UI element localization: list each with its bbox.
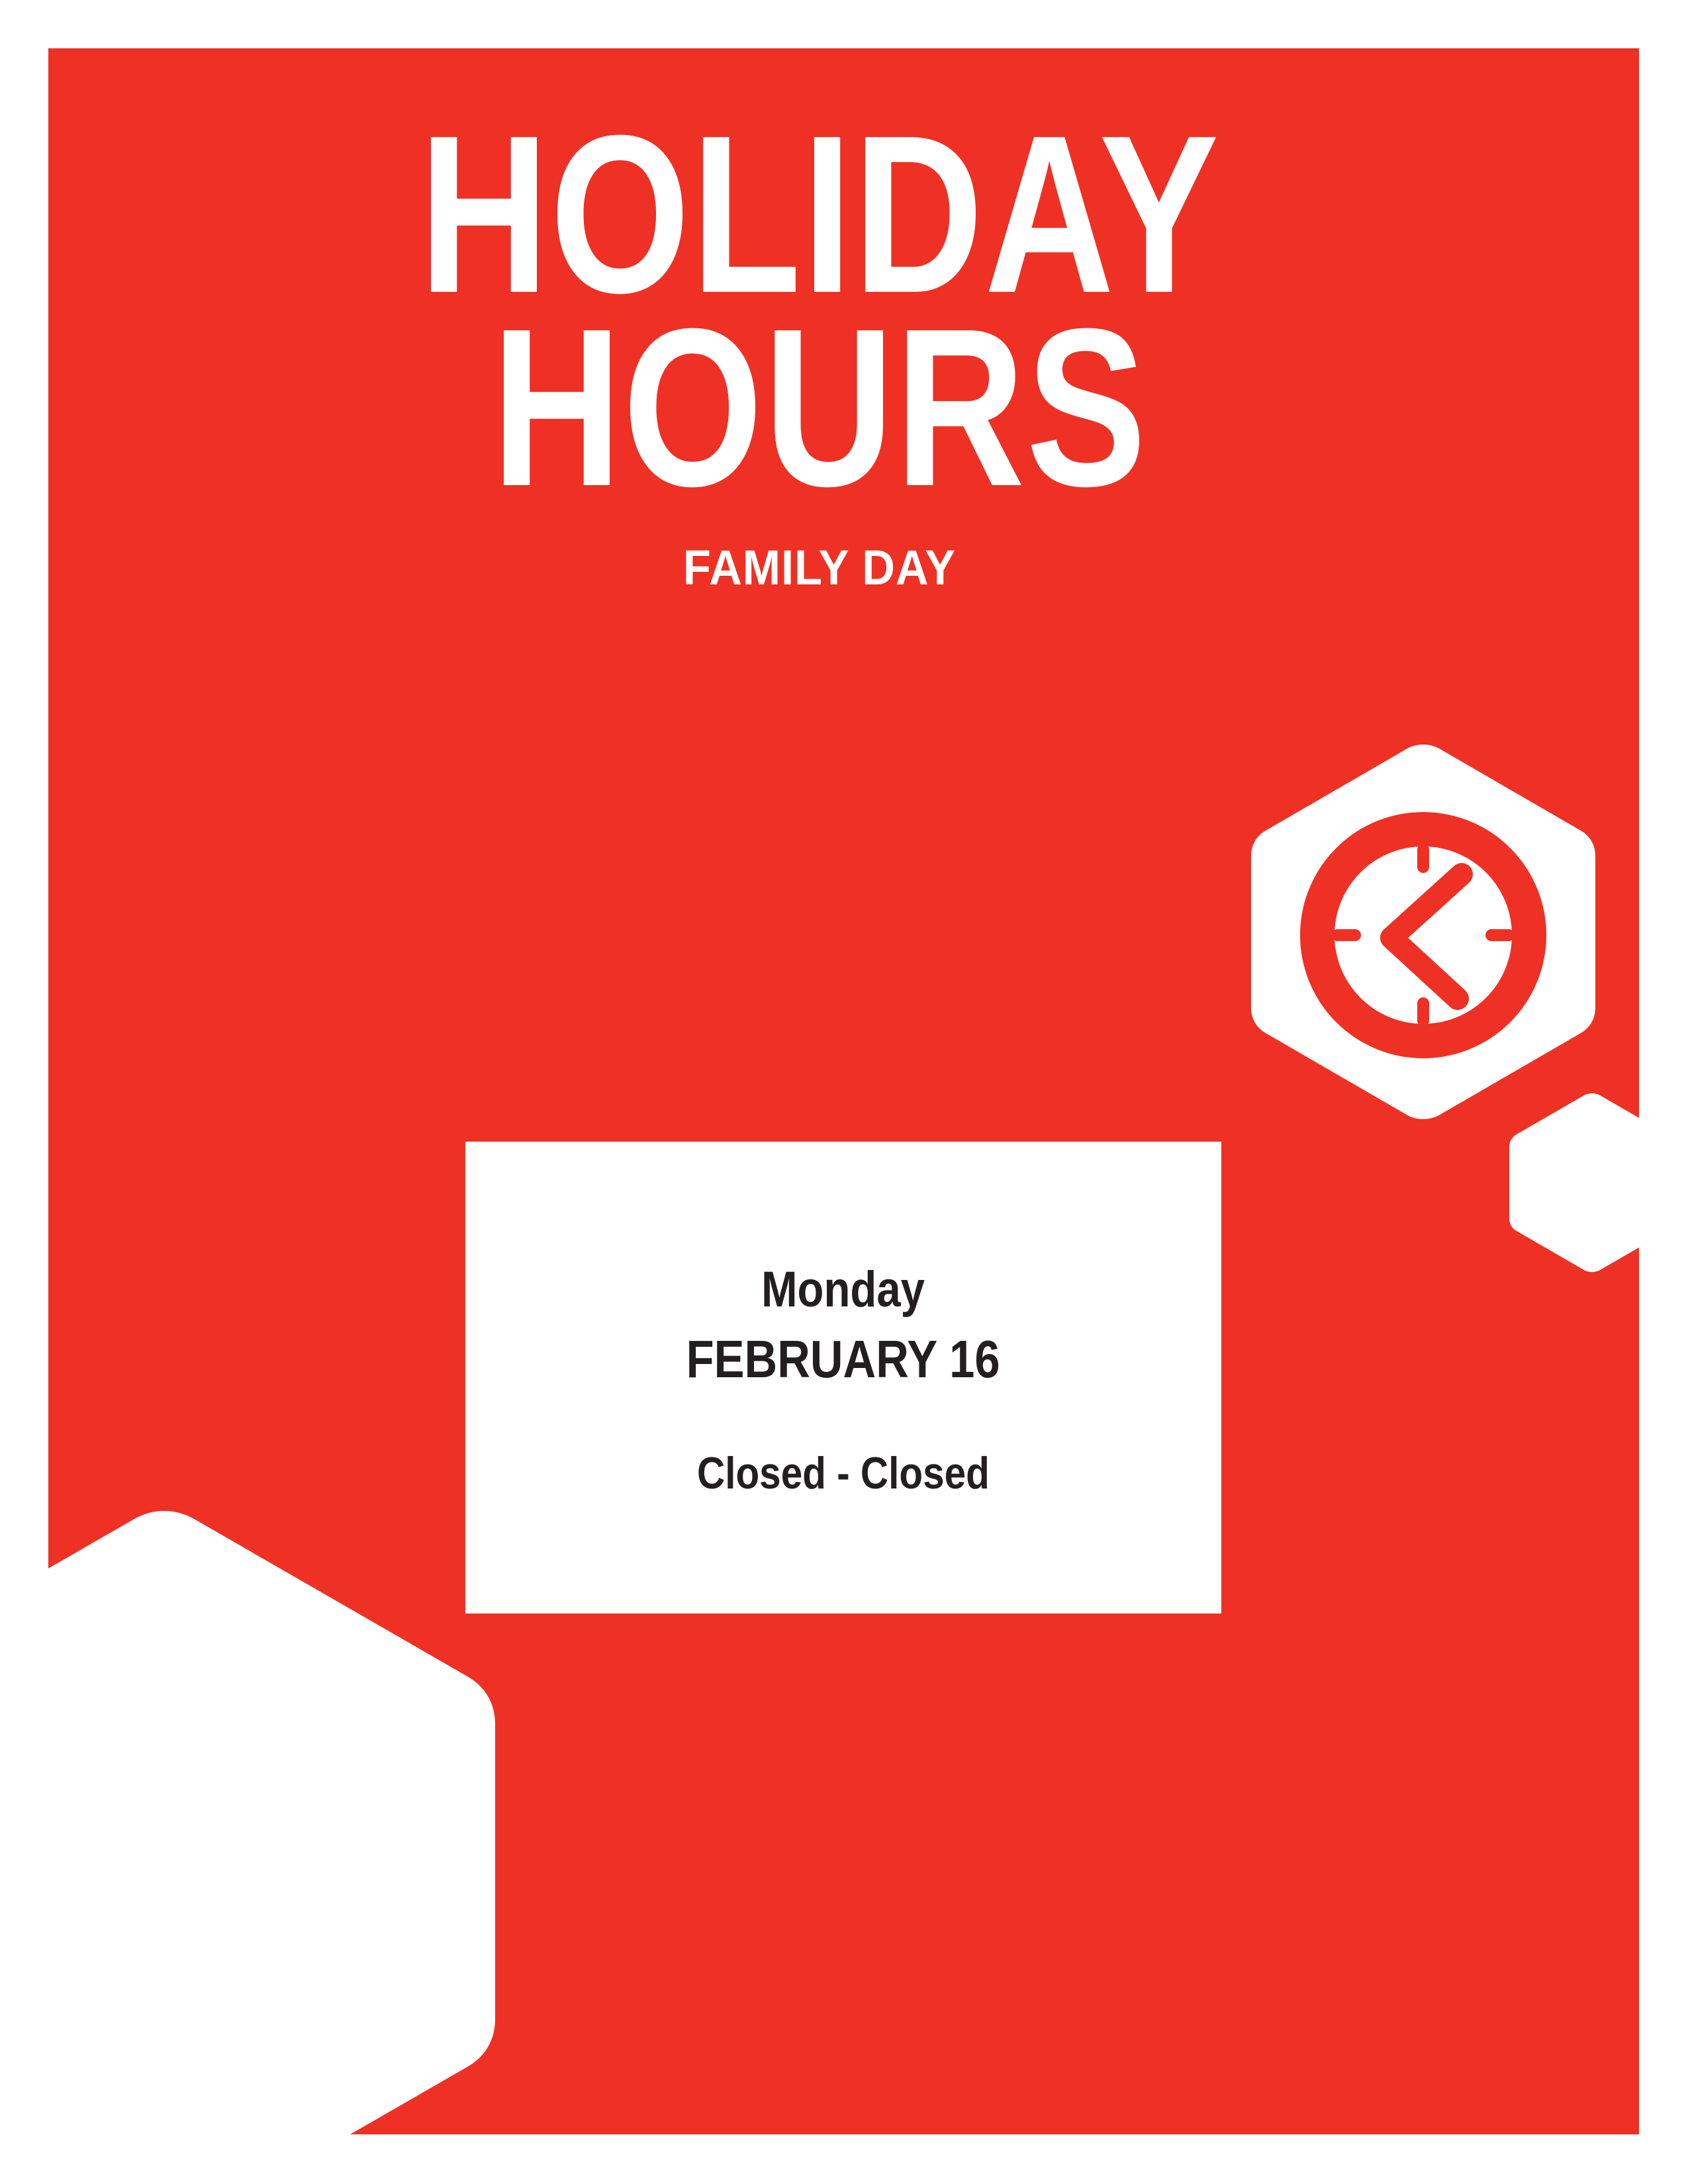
page-subtitle: FAMILY DAY	[103, 541, 1537, 594]
hexagon-shape	[1509, 1093, 1639, 1272]
schedule-date: FEBRUARY 16	[686, 1331, 1000, 1388]
schedule-hours: Closed - Closed	[697, 1449, 990, 1498]
hexagon-decoration-right	[1509, 1093, 1639, 1273]
hexagon-shape	[48, 1511, 495, 2134]
page-title-line-2: HOURS	[203, 311, 1436, 504]
schedule-day: Monday	[762, 1262, 925, 1318]
page-title-line-1: HOLIDAY	[203, 118, 1436, 311]
poster-background-panel: HOLIDAY HOURS FAMILY DAY	[48, 48, 1639, 2134]
hexagon-decoration-bottom-left	[48, 1511, 495, 2134]
hexagon-badge	[1251, 745, 1595, 1119]
poster-heading-group: HOLIDAY HOURS FAMILY DAY	[48, 118, 1591, 594]
holiday-hours-poster: HOLIDAY HOURS FAMILY DAY	[0, 0, 1688, 2184]
schedule-card: Monday FEBRUARY 16 Closed - Closed	[465, 1142, 1221, 1614]
